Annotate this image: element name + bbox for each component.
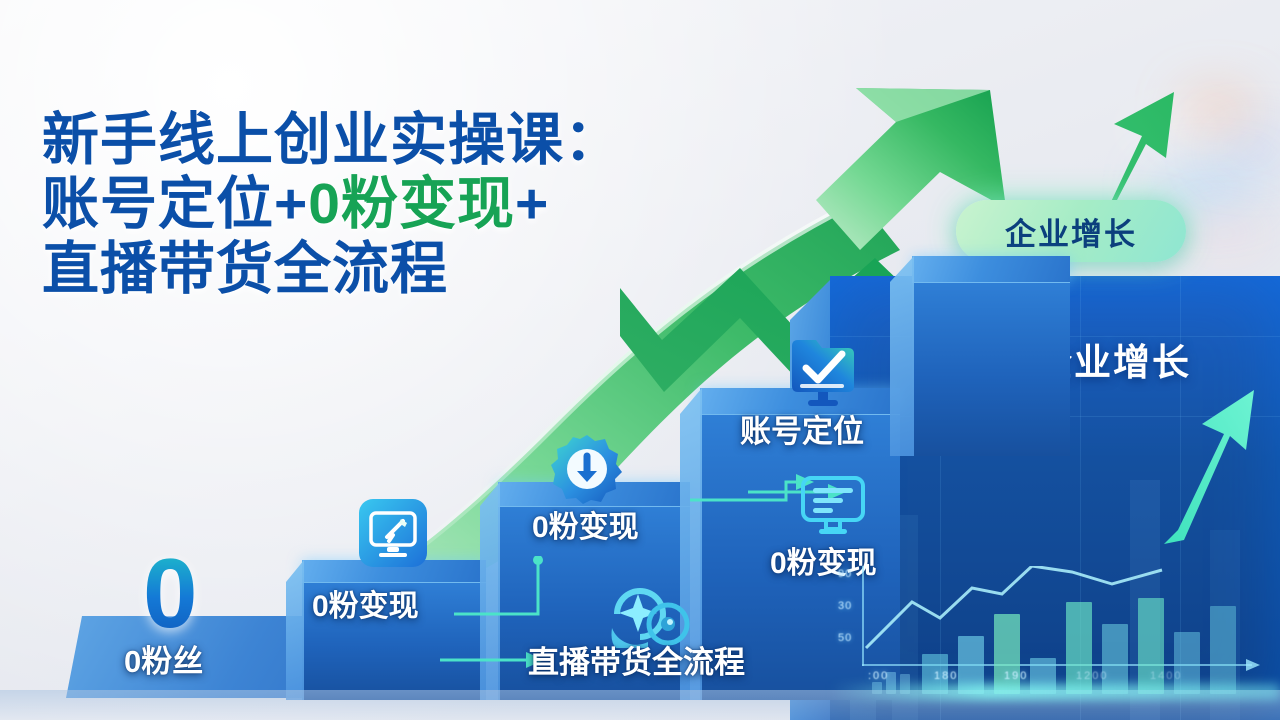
- chart-ytick-1: 30: [838, 600, 852, 612]
- title-line-1: 新手线上创业实操课：: [42, 108, 762, 172]
- chart-xtick-0: :00: [868, 670, 889, 682]
- zero-figure: 0: [143, 544, 198, 642]
- panel-accent-arrow: [1160, 380, 1260, 550]
- poster-canvas: 新手线上创业实操课： 账号定位+0粉变现+ 直播带货全流程: [0, 0, 1280, 720]
- chart-ytick-0: 90: [838, 568, 852, 580]
- bg-blob-orange: [1185, 96, 1249, 126]
- gear-download-icon[interactable]: [550, 432, 624, 506]
- step-3-label: 账号定位: [740, 406, 864, 451]
- growth-badge[interactable]: 企业增长: [956, 200, 1186, 262]
- chart-xtick-4: 1400: [1150, 670, 1182, 682]
- bg-blob-cyan: [1150, 175, 1260, 201]
- title-line-2-part-c: +: [515, 172, 549, 236]
- bg-blob-pink: [1180, 225, 1270, 243]
- monitor-pen-icon[interactable]: [357, 497, 429, 569]
- chart-xtick-3: 1200: [1076, 670, 1108, 682]
- live-flow-label: 直播带货全流程: [528, 637, 745, 682]
- step-4[interactable]: [890, 256, 1070, 456]
- title-line-2: 账号定位+0粉变现+: [42, 172, 762, 236]
- chart-ytick-2: 50: [838, 632, 852, 644]
- step-4-side: [890, 256, 914, 456]
- step-2-label: 0粉变现: [532, 502, 639, 546]
- monitor-check-icon[interactable]: [786, 334, 862, 410]
- document-lines-icon[interactable]: [795, 468, 871, 544]
- growth-chart: 90 30 50 :00 180 190 1200 1400: [838, 566, 1258, 694]
- growth-badge-label: 企业增长: [1005, 209, 1137, 254]
- chart-xtick-1: 180: [934, 670, 958, 682]
- step-4-top: [912, 256, 1070, 282]
- step-1-side: [286, 560, 304, 700]
- floor-glow: [830, 684, 1280, 700]
- step-1-label: 0粉变现: [312, 581, 419, 625]
- chart-line-series: [862, 566, 1252, 666]
- bg-blob-white: [1120, 120, 1240, 136]
- chart-xtick-2: 190: [1004, 670, 1028, 682]
- title-line-2-highlight: 0粉变现: [308, 172, 515, 236]
- step-2-side: [480, 482, 500, 700]
- title-line-2-part-a: 账号定位+: [42, 172, 308, 236]
- step-4-front: [912, 282, 1070, 456]
- bg-blob-blue: [1210, 138, 1280, 160]
